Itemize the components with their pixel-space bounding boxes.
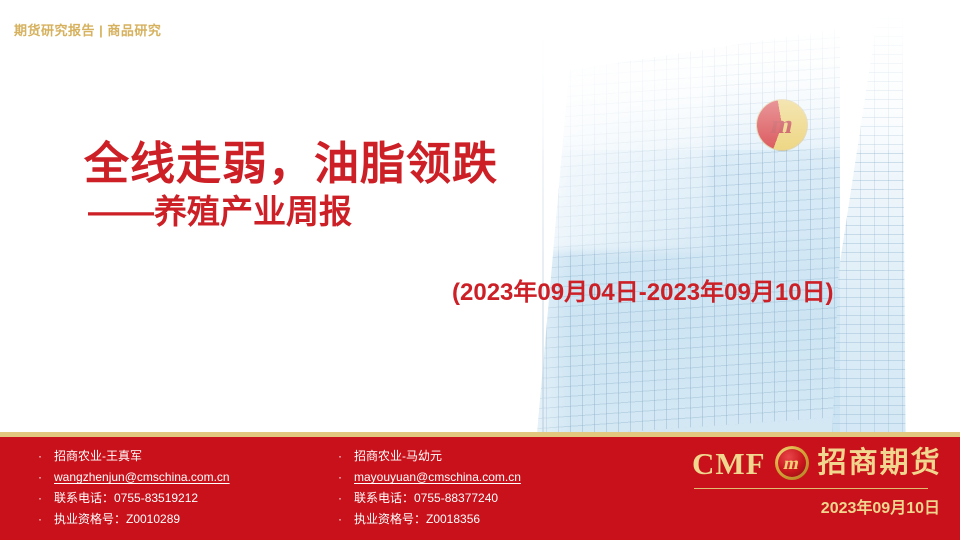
contact-license: 执业资格号：Z0010289 — [54, 509, 180, 530]
tower-main — [510, 20, 840, 437]
page-subtitle: ——养殖产业周报 — [88, 193, 498, 231]
bullet-icon: · — [338, 467, 354, 488]
brand-name-cn: 招商期货 — [818, 449, 942, 478]
contact-name-row: · 招商农业-马幼元 — [338, 446, 521, 467]
contact-column-2: · 招商农业-马幼元 · mayouyuan@cmschina.com.cn ·… — [338, 446, 521, 530]
contact-phone-row: · 联系电话：0755-88377240 — [338, 488, 521, 509]
bullet-icon: · — [38, 446, 54, 467]
wing-glass-grid — [832, 0, 912, 437]
bullet-icon: · — [338, 488, 354, 509]
contact-license-row: · 执业资格号：Z0010289 — [38, 509, 230, 530]
footer-bar: · 招商农业-王真军 · wangzhenjun@cmschina.com.cn… — [0, 432, 960, 540]
building-photo-inner: m — [480, 0, 960, 437]
bullet-icon: · — [38, 509, 54, 530]
title-block: 全线走弱，油脂领跌 ——养殖产业周报 — [84, 140, 498, 231]
brand-logo-row: CMF m 招商期货 — [692, 446, 942, 480]
contact-email-row[interactable]: · wangzhenjun@cmschina.com.cn — [38, 467, 230, 488]
contact-name: 招商农业-马幼元 — [354, 446, 442, 467]
contact-license: 执业资格号：Z0018356 — [354, 509, 480, 530]
bullet-icon: · — [38, 467, 54, 488]
brand-emblem-mark: m — [782, 454, 801, 472]
contact-license-row: · 执业资格号：Z0018356 — [338, 509, 521, 530]
footer-gold-rule — [0, 432, 960, 437]
contact-column-1: · 招商农业-王真军 · wangzhenjun@cmschina.com.cn… — [38, 446, 230, 530]
bullet-icon: · — [338, 446, 354, 467]
report-cover-slide: 期货研究报告 | 商品研究 m 全线走弱，油脂领跌 ——养殖产业周报 (2023… — [0, 0, 960, 540]
page-title: 全线走弱，油脂领跌 — [84, 140, 498, 189]
contact-email-link[interactable]: mayouyuan@cmschina.com.cn — [354, 467, 521, 488]
bullet-icon: · — [38, 488, 54, 509]
brand-underline — [694, 488, 928, 489]
facade-emblem-icon: m — [757, 100, 807, 150]
wing-edge-line — [542, 4, 544, 434]
contact-phone: 联系电话：0755-88377240 — [354, 488, 498, 509]
brand-date: 2023年09月10日 — [821, 494, 940, 518]
report-kicker: 期货研究报告 | 商品研究 — [14, 20, 161, 39]
brand-logo: CMF m 招商期货 2023年09月10日 — [692, 444, 942, 524]
bullet-icon: · — [338, 509, 354, 530]
facade-emblem-mark: m — [768, 112, 795, 138]
contact-phone: 联系电话：0755-83519212 — [54, 488, 198, 509]
tower-wing — [832, 0, 912, 437]
brand-emblem-icon: m — [775, 446, 809, 480]
contact-phone-row: · 联系电话：0755-83519212 — [38, 488, 230, 509]
tower-highlight — [527, 62, 709, 251]
report-date-range: (2023年09月04日-2023年09月10日) — [452, 272, 834, 307]
contact-name: 招商农业-王真军 — [54, 446, 142, 467]
contact-email-link[interactable]: wangzhenjun@cmschina.com.cn — [54, 467, 230, 488]
contact-name-row: · 招商农业-王真军 — [38, 446, 230, 467]
contact-email-row[interactable]: · mayouyuan@cmschina.com.cn — [338, 467, 521, 488]
building-photo: m — [480, 0, 960, 437]
brand-cmf-text: CMF — [692, 448, 766, 479]
